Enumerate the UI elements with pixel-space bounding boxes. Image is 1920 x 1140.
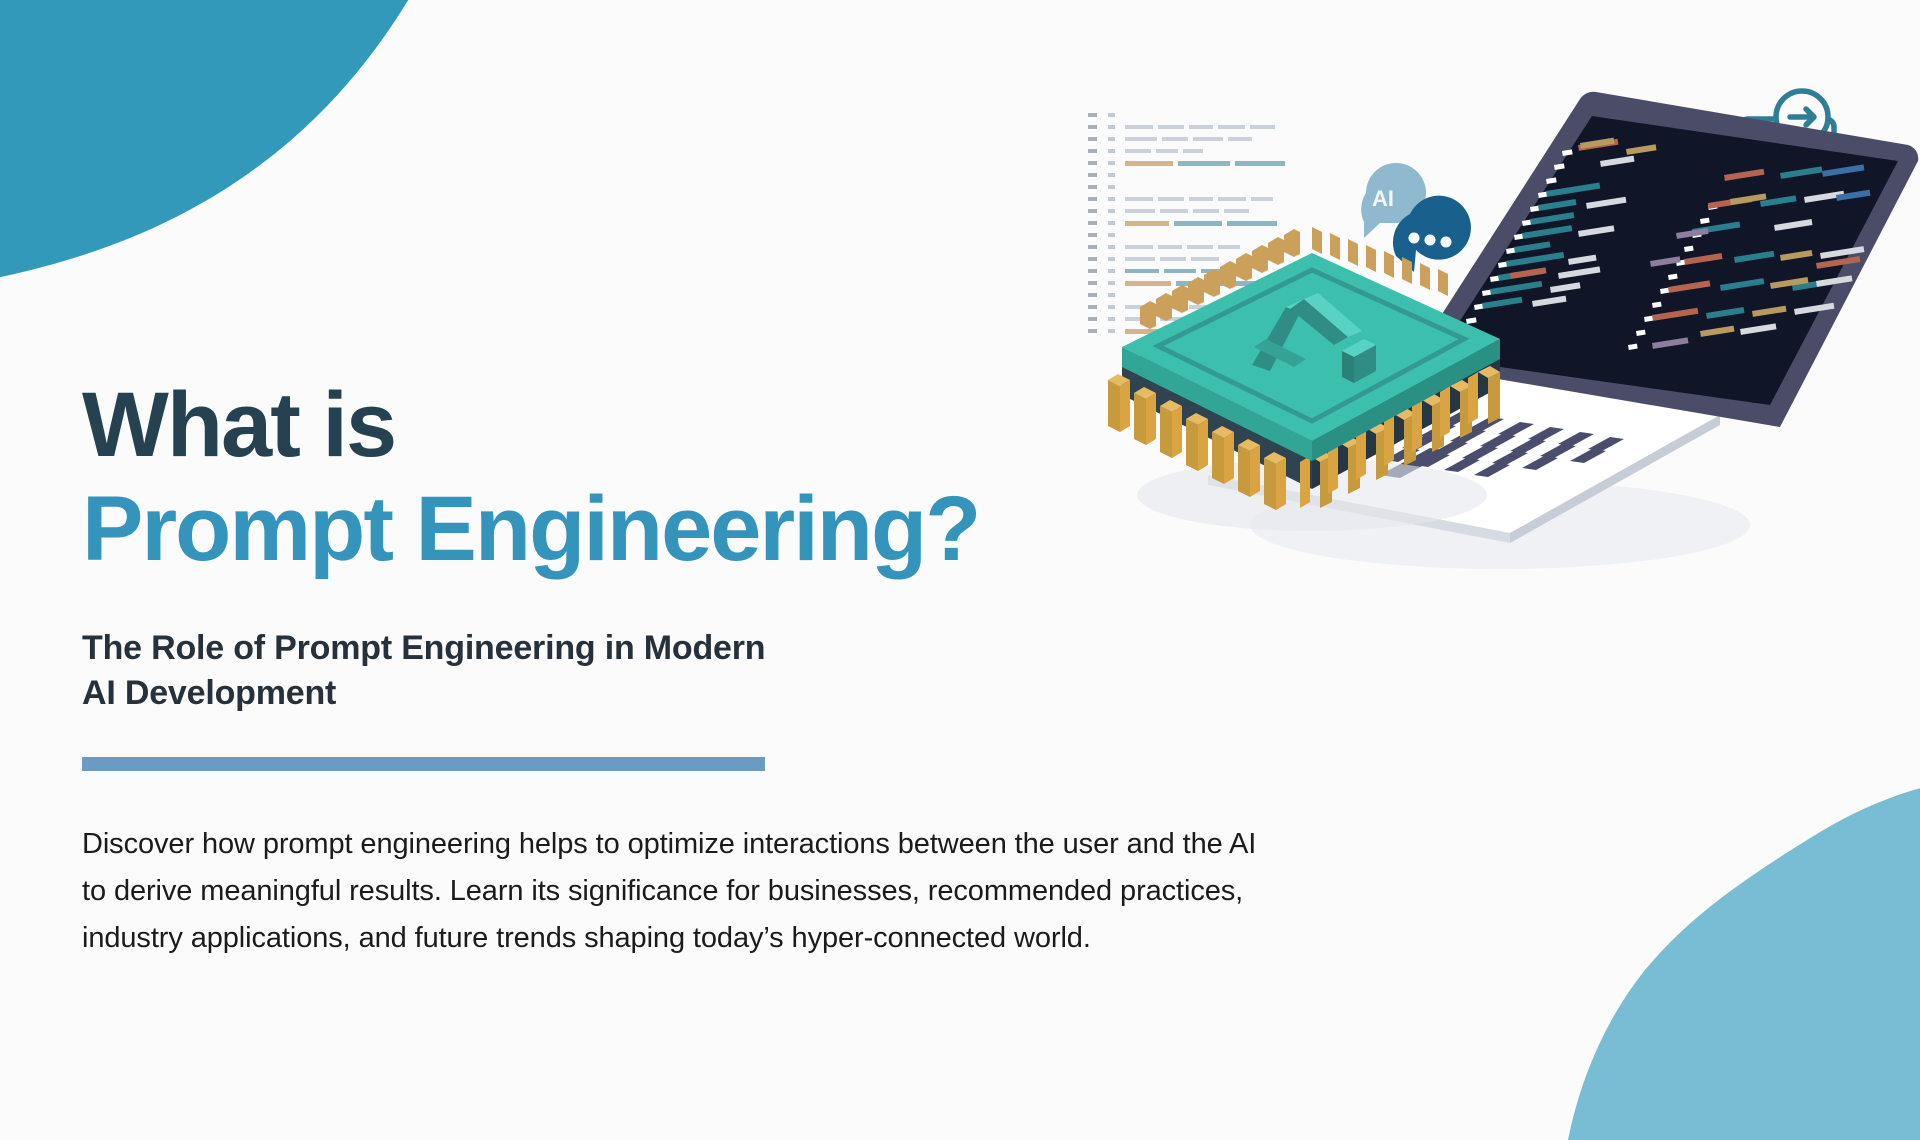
page-title: What is Prompt Engineering?	[82, 380, 1282, 574]
typing-dot	[1409, 233, 1420, 244]
page-subtitle: The Role of Prompt Engineering in Modern…	[82, 626, 1082, 714]
body-line-1: Discover how prompt engineering helps to…	[82, 821, 1282, 868]
decorative-blob-bottom-right	[1400, 780, 1920, 1140]
ai-bubble-label: AI	[1372, 186, 1394, 211]
section-divider	[82, 757, 765, 771]
hero-text-block: What is Prompt Engineering? The Role of …	[82, 380, 1282, 962]
ai-chat-bubble-group: AI	[1361, 163, 1471, 272]
body-line-3: industry applications, and future trends…	[82, 915, 1282, 962]
decorative-blob-top-left	[0, 0, 630, 310]
headline-line-1: What is	[82, 380, 1282, 470]
subtitle-line-1: The Role of Prompt Engineering in Modern	[82, 626, 1082, 670]
typing-dot	[1425, 235, 1436, 246]
subtitle-line-2: AI Development	[82, 671, 1082, 715]
body-paragraph: Discover how prompt engineering helps to…	[82, 821, 1282, 962]
body-line-2: to derive meaningful results. Learn its …	[82, 868, 1282, 915]
headline-line-2: Prompt Engineering?	[82, 484, 1282, 574]
typing-dot	[1441, 237, 1452, 248]
